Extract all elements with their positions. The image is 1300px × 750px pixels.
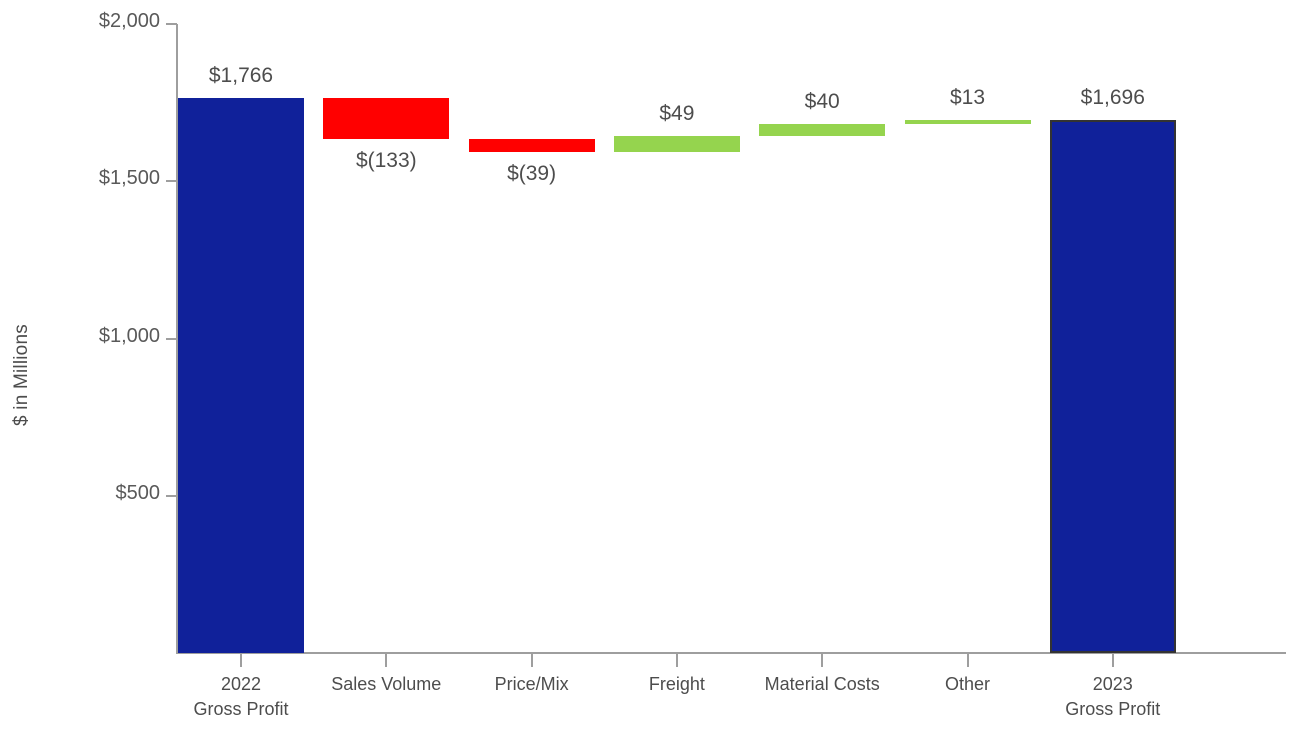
x-tick-label-line1: 2022 — [221, 674, 261, 694]
x-tick-mark — [1112, 654, 1114, 667]
bar-decrease[interactable] — [323, 98, 449, 140]
y-tick-mark — [166, 495, 177, 497]
x-tick-label-line1: Freight — [649, 674, 705, 694]
bar-value-label: $1,696 — [1003, 86, 1223, 110]
bar-value-label: $(39) — [422, 162, 642, 186]
waterfall-chart: $ in Millions $2,000$1,500$1,000$500 202… — [0, 0, 1300, 750]
y-tick-mark — [166, 23, 177, 25]
x-tick-label: 2023Gross Profit — [1003, 672, 1223, 722]
y-tick-label: $2,000 — [40, 10, 160, 33]
bar-decrease[interactable] — [469, 139, 595, 151]
y-tick-mark — [166, 338, 177, 340]
x-tick-mark — [240, 654, 242, 667]
x-tick-label-line2: Gross Profit — [131, 697, 351, 722]
x-tick-mark — [531, 654, 533, 667]
x-tick-mark — [821, 654, 823, 667]
y-tick-mark — [166, 180, 177, 182]
bar-total[interactable] — [1050, 120, 1176, 653]
x-tick-label-line2: Gross Profit — [1003, 697, 1223, 722]
x-tick-mark — [385, 654, 387, 667]
bar-value-label: $1,766 — [131, 64, 351, 88]
y-tick-label: $1,000 — [40, 325, 160, 348]
x-tick-label-line1: 2023 — [1093, 674, 1133, 694]
bar-increase[interactable] — [614, 136, 740, 151]
x-tick-label-line1: Price/Mix — [495, 674, 569, 694]
y-tick-label: $500 — [40, 482, 160, 505]
bar-increase[interactable] — [905, 120, 1031, 124]
x-tick-mark — [676, 654, 678, 667]
x-tick-mark — [967, 654, 969, 667]
y-tick-label: $1,500 — [40, 167, 160, 190]
bar-increase[interactable] — [759, 124, 885, 137]
x-tick-label-line1: Other — [945, 674, 990, 694]
y-axis-title: $ in Millions — [0, 0, 44, 750]
bar-total[interactable] — [178, 98, 304, 653]
